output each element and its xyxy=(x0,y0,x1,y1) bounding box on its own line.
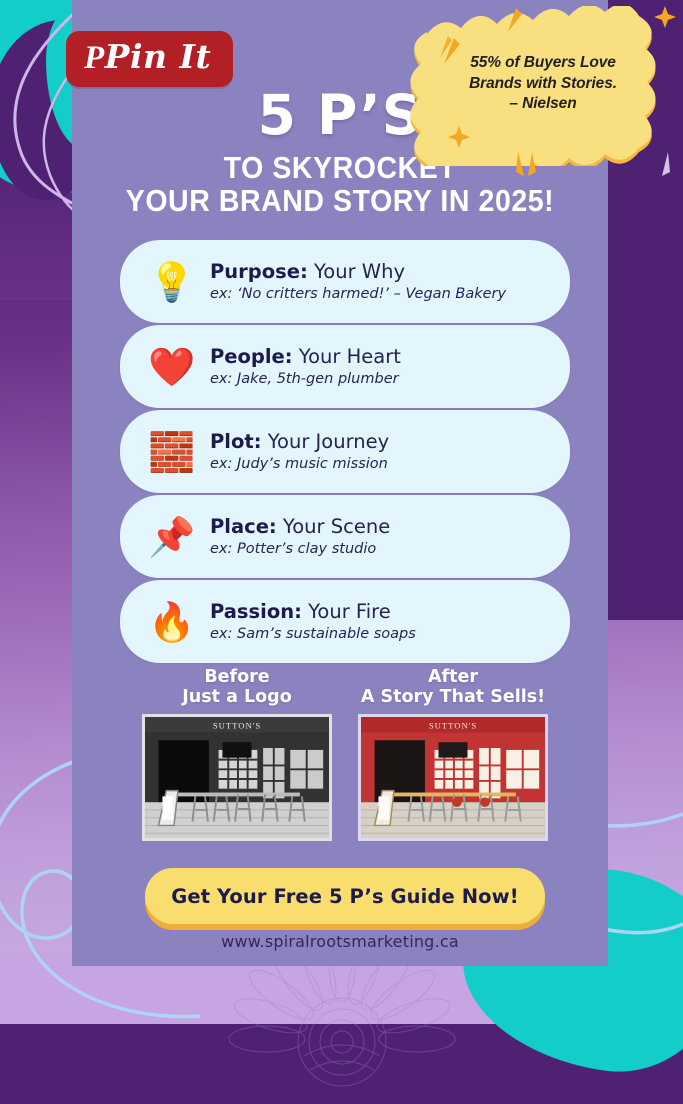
list-item-title: Purpose: Your Why xyxy=(210,260,552,283)
pushpin-icon: 📌 xyxy=(134,518,210,556)
sparkle-icon-top-right xyxy=(654,6,676,28)
sparkle-icon-top xyxy=(504,6,526,36)
before-label-line-1: Before xyxy=(142,668,332,688)
list-item-example: ex: Jake, 5th-gen plumber xyxy=(210,371,552,388)
before-label: Before Just a Logo xyxy=(142,668,332,707)
list-item-label: Place: xyxy=(210,515,277,538)
badge-line-1: 55% of Buyers Love xyxy=(470,53,616,73)
sparkle-icon-left xyxy=(440,34,474,68)
five-ps-list: 💡 Purpose: Your Why ex: ‘No critters har… xyxy=(120,240,570,665)
list-item-example: ex: Judy’s music mission xyxy=(210,456,552,473)
list-item-subtitle: Your Scene xyxy=(283,515,390,538)
before-image: SUTTON'S xyxy=(142,714,332,841)
cta-container: Get Your Free 5 P’s Guide Now! xyxy=(145,868,545,924)
list-item[interactable]: 🧱 Plot: Your Journey ex: Judy’s music mi… xyxy=(120,410,570,493)
list-item-example: ex: ‘No critters harmed!’ – Vegan Bakery xyxy=(210,286,552,303)
pin-it-text: Pin It xyxy=(105,37,212,76)
list-item-label: Passion: xyxy=(210,600,302,623)
badge-line-3: – Nielsen xyxy=(509,94,576,114)
list-item-subtitle: Your Heart xyxy=(299,345,401,368)
list-item-body: Purpose: Your Why ex: ‘No critters harme… xyxy=(210,260,552,304)
svg-text:SUTTON'S: SUTTON'S xyxy=(213,721,261,731)
storefront-illustration: SUTTON'S xyxy=(145,717,329,840)
before-label-line-2: Just a Logo xyxy=(142,688,332,708)
list-item-subtitle: Your Journey xyxy=(268,430,389,453)
cta-button-label: Get Your Free 5 P’s Guide Now! xyxy=(171,885,518,908)
list-item[interactable]: 📌 Place: Your Scene ex: Potter’s clay st… xyxy=(120,495,570,578)
list-item-label: People: xyxy=(210,345,293,368)
list-item-body: Passion: Your Fire ex: Sam’s sustainable… xyxy=(210,600,552,644)
list-item[interactable]: 🔥 Passion: Your Fire ex: Sam’s sustainab… xyxy=(120,580,570,663)
sparkle-icon-bottom-left xyxy=(448,126,470,148)
after-label-line-1: After xyxy=(358,668,548,688)
after-label-line-2: A Story That Sells! xyxy=(358,688,548,708)
list-item-title: Plot: Your Journey xyxy=(210,430,552,453)
before-column: Before Just a Logo SUTTON'S xyxy=(142,668,332,841)
list-item-label: Purpose: xyxy=(210,260,308,283)
storefront-illustration: SUTTON'S xyxy=(361,717,545,840)
list-item-body: Place: Your Scene ex: Potter’s clay stud… xyxy=(210,515,552,559)
after-column: After A Story That Sells! SUTTON'S xyxy=(358,668,548,841)
after-image: SUTTON'S xyxy=(358,714,548,841)
list-item-subtitle: Your Fire xyxy=(308,600,391,623)
sparkle-icon-bottom xyxy=(512,150,538,180)
list-item-example: ex: Sam’s sustainable soaps xyxy=(210,626,552,643)
svg-text:SUTTON'S: SUTTON'S xyxy=(429,721,477,731)
list-item-body: People: Your Heart ex: Jake, 5th-gen plu… xyxy=(210,345,552,389)
list-item[interactable]: ❤️ People: Your Heart ex: Jake, 5th-gen … xyxy=(120,325,570,408)
list-item-subtitle: Your Why xyxy=(314,260,405,283)
pin-it-label: PPin It xyxy=(84,40,211,75)
sparkle-icon-bottom-right xyxy=(652,150,674,180)
pinterest-p-icon: P xyxy=(84,42,105,75)
brick-road-icon: 🧱 xyxy=(134,433,210,471)
heart-icon: ❤️ xyxy=(134,348,210,386)
list-item-title: People: Your Heart xyxy=(210,345,552,368)
list-item-example: ex: Potter’s clay studio xyxy=(210,541,552,558)
headline-line-3: YOUR BRAND STORY IN 2025! xyxy=(93,184,586,217)
website-url[interactable]: www.spiralrootsmarketing.ca xyxy=(72,932,608,951)
badge-line-2: Brands with Stories. xyxy=(469,74,617,94)
fire-icon: 🔥 xyxy=(134,603,210,641)
pin-it-button[interactable]: PPin It xyxy=(66,31,233,87)
list-item-label: Plot: xyxy=(210,430,262,453)
list-item-title: Passion: Your Fire xyxy=(210,600,552,623)
before-after-section: Before Just a Logo SUTTON'S xyxy=(120,668,570,841)
list-item-title: Place: Your Scene xyxy=(210,515,552,538)
after-label: After A Story That Sells! xyxy=(358,668,548,707)
lightbulb-icon: 💡 xyxy=(134,263,210,301)
list-item-body: Plot: Your Journey ex: Judy’s music miss… xyxy=(210,430,552,474)
cta-button[interactable]: Get Your Free 5 P’s Guide Now! xyxy=(145,868,545,924)
list-item[interactable]: 💡 Purpose: Your Why ex: ‘No critters har… xyxy=(120,240,570,323)
